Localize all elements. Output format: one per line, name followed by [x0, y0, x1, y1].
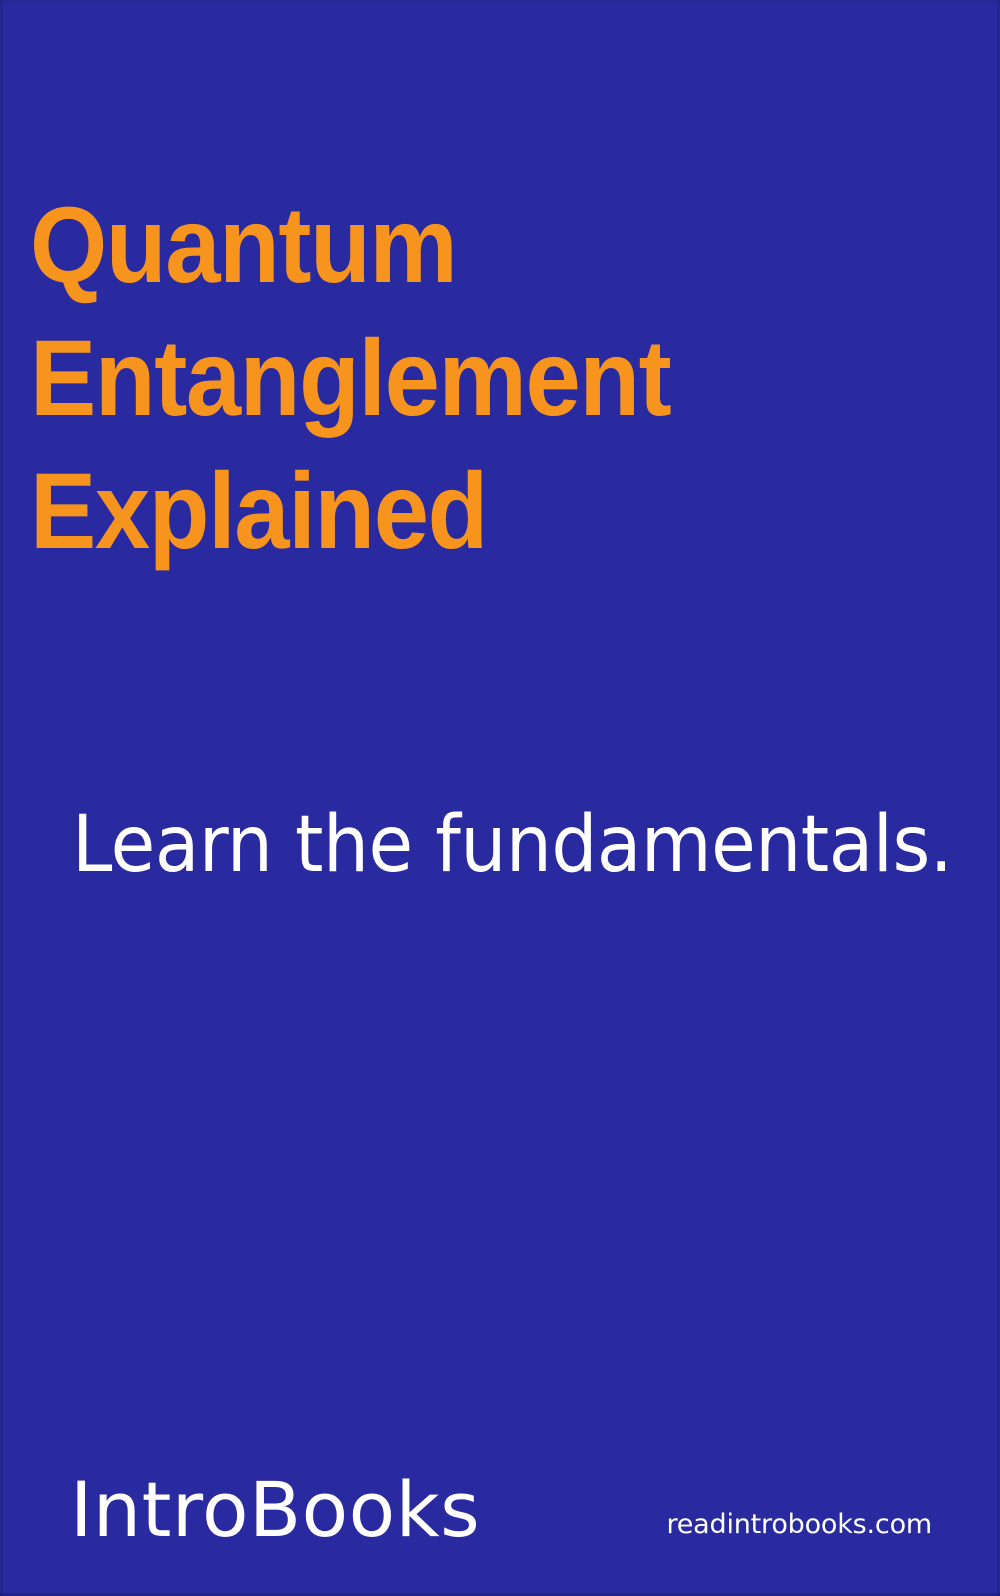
book-cover: Quantum Entanglement Explained Learn the… [0, 0, 1000, 1596]
book-title: Quantum Entanglement Explained [30, 178, 930, 577]
cover-footer: IntroBooks readintrobooks.com [0, 1436, 1000, 1596]
title-line-1: Quantum [30, 178, 858, 311]
title-line-3: Explained [30, 444, 858, 577]
publisher-website-url: readintrobooks.com [666, 1510, 932, 1540]
book-subtitle: Learn the fundamentals. [72, 800, 890, 890]
title-line-2: Entanglement [30, 311, 858, 444]
publisher-logo: IntroBooks [70, 1470, 480, 1550]
